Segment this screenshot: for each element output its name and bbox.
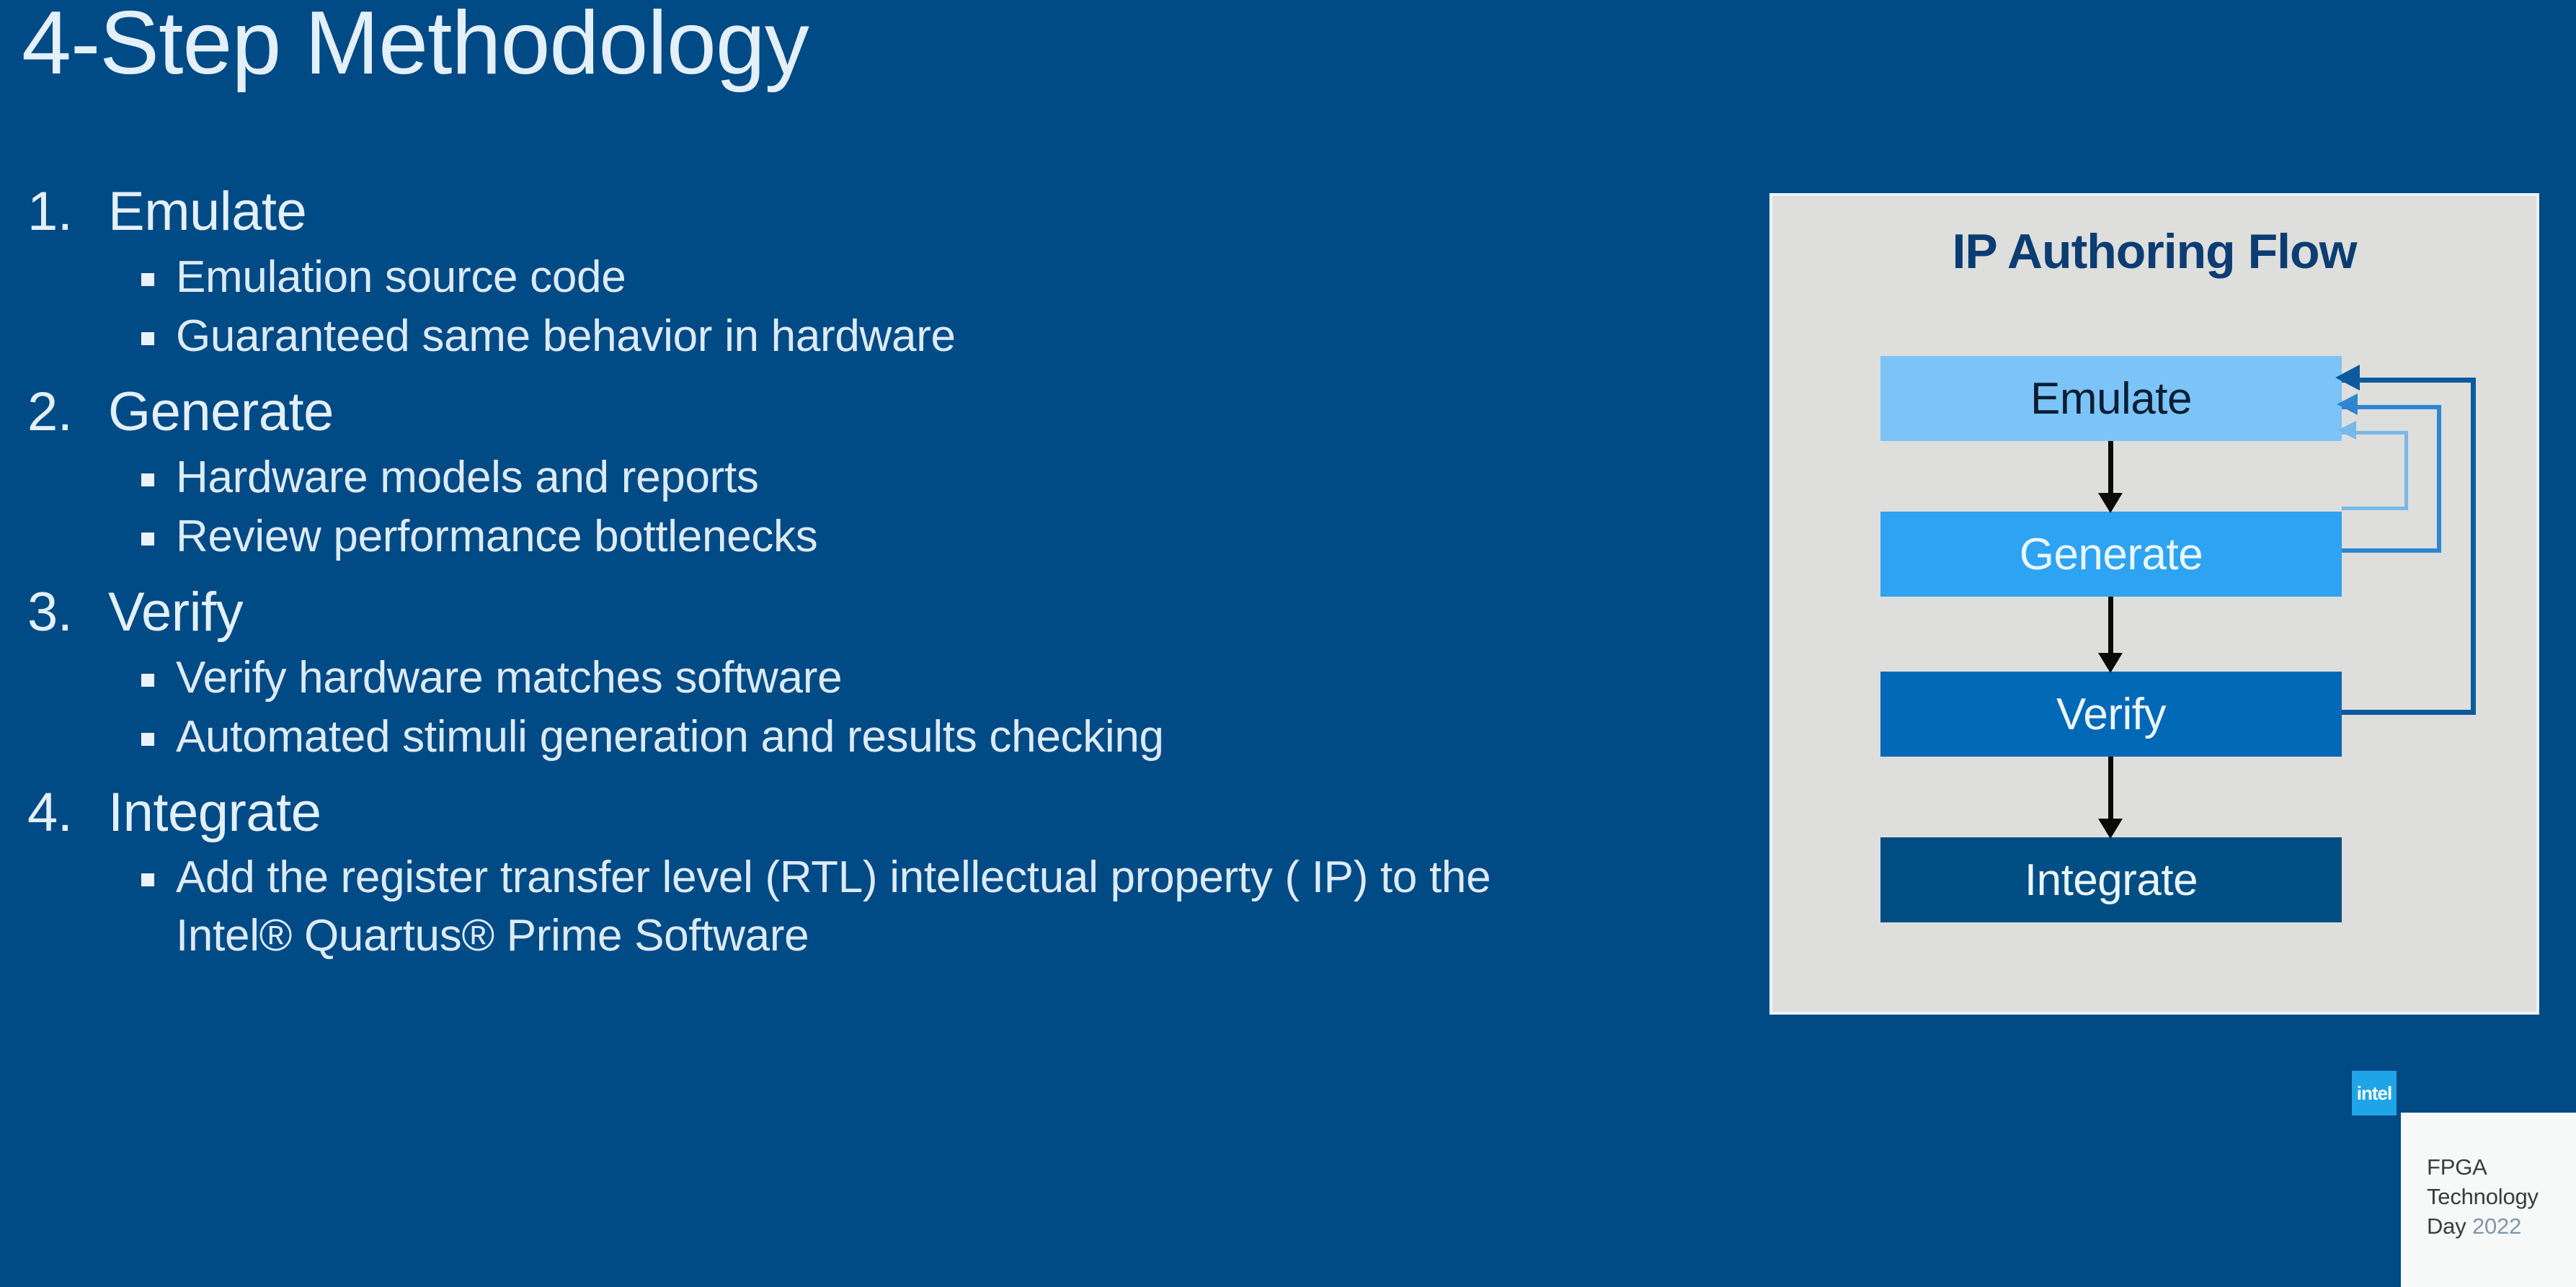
- step-number-2: 2.: [0, 379, 108, 446]
- bullet-item: Guaranteed same behavior in hardware: [141, 308, 1730, 366]
- feedback-loop-emulate-self: [2342, 431, 2408, 510]
- event-line-3: Day 2022: [2427, 1212, 2576, 1242]
- step-number-4: 4.: [0, 780, 108, 847]
- step-heading-3: 3. Verify: [0, 579, 1730, 646]
- flow-diagram-title: IP Authoring Flow: [1772, 223, 2536, 280]
- flow-box-emulate[interactable]: Emulate: [1880, 356, 2342, 441]
- step-number-1: 1.: [0, 179, 108, 246]
- bullet-text: Guaranteed same behavior in hardware: [176, 308, 956, 366]
- bullet-text: Add the register transfer level (RTL) in…: [176, 849, 1516, 965]
- step-item-1: 1. Emulate Emulation source code Guarant…: [0, 179, 1730, 366]
- bullet-text: Emulation source code: [176, 249, 626, 307]
- methodology-step-list: 1. Emulate Emulation source code Guarant…: [0, 179, 1730, 979]
- flow-arrow-verify-to-integrate: [2108, 757, 2113, 820]
- feedback-arrowhead-outer-icon: [2335, 365, 2360, 391]
- flow-arrow-emulate-to-generate: [2108, 441, 2113, 494]
- bullet-item: Add the register transfer level (RTL) in…: [141, 849, 1730, 965]
- branding-block: intel FPGA Technology Day 2022: [2352, 1071, 2576, 1287]
- flow-box-integrate[interactable]: Integrate: [1880, 837, 2342, 922]
- bullet-item: Verify hardware matches software: [141, 649, 1730, 708]
- bullet-text: Review performance bottlenecks: [176, 508, 817, 566]
- step-name-4: Integrate: [108, 780, 321, 847]
- step-bullets-1: Emulation source code Guaranteed same be…: [0, 249, 1730, 366]
- page-title: 4-Step Methodology: [22, 0, 809, 92]
- event-line-1: FPGA: [2427, 1153, 2576, 1183]
- event-day-label: Day: [2427, 1213, 2472, 1239]
- step-heading-1: 1. Emulate: [0, 179, 1730, 246]
- step-item-2: 2. Generate Hardware models and reports …: [0, 379, 1730, 566]
- event-logo-card: FPGA Technology Day 2022: [2401, 1113, 2576, 1287]
- step-heading-4: 4. Integrate: [0, 780, 1730, 847]
- flow-box-verify[interactable]: Verify: [1880, 672, 2342, 757]
- step-bullets-4: Add the register transfer level (RTL) in…: [0, 849, 1730, 965]
- feedback-arrowhead-inner-icon: [2337, 421, 2356, 440]
- feedback-arrowhead-middle-icon: [2337, 393, 2358, 415]
- step-bullets-2: Hardware models and reports Review perfo…: [0, 449, 1730, 566]
- flow-arrow-generate-to-verify: [2108, 597, 2113, 654]
- step-number-3: 3.: [0, 579, 108, 646]
- ip-authoring-flow-panel: IP Authoring Flow Emulate Generate Verif…: [1769, 193, 2539, 1015]
- step-heading-2: 2. Generate: [0, 379, 1730, 446]
- intel-logo: intel: [2352, 1071, 2397, 1115]
- bullet-text: Automated stimuli generation and results…: [176, 708, 1164, 767]
- bullet-text: Verify hardware matches software: [176, 649, 842, 708]
- bullet-item: Hardware models and reports: [141, 449, 1730, 507]
- step-item-4: 4. Integrate Add the register transfer l…: [0, 780, 1730, 966]
- slide-root: 4-Step Methodology 1. Emulate Emulation …: [0, 0, 2576, 1287]
- event-year-label: 2022: [2472, 1213, 2521, 1239]
- bullet-text: Hardware models and reports: [176, 449, 759, 507]
- event-line-2: Technology: [2427, 1183, 2576, 1212]
- bullet-item: Automated stimuli generation and results…: [141, 708, 1730, 767]
- step-item-3: 3. Verify Verify hardware matches softwa…: [0, 579, 1730, 767]
- step-name-3: Verify: [108, 579, 243, 646]
- step-name-2: Generate: [108, 379, 334, 446]
- flow-box-generate[interactable]: Generate: [1880, 512, 2342, 597]
- bullet-item: Review performance bottlenecks: [141, 508, 1730, 566]
- bullet-item: Emulation source code: [141, 249, 1730, 307]
- step-bullets-3: Verify hardware matches software Automat…: [0, 649, 1730, 767]
- step-name-1: Emulate: [108, 179, 306, 246]
